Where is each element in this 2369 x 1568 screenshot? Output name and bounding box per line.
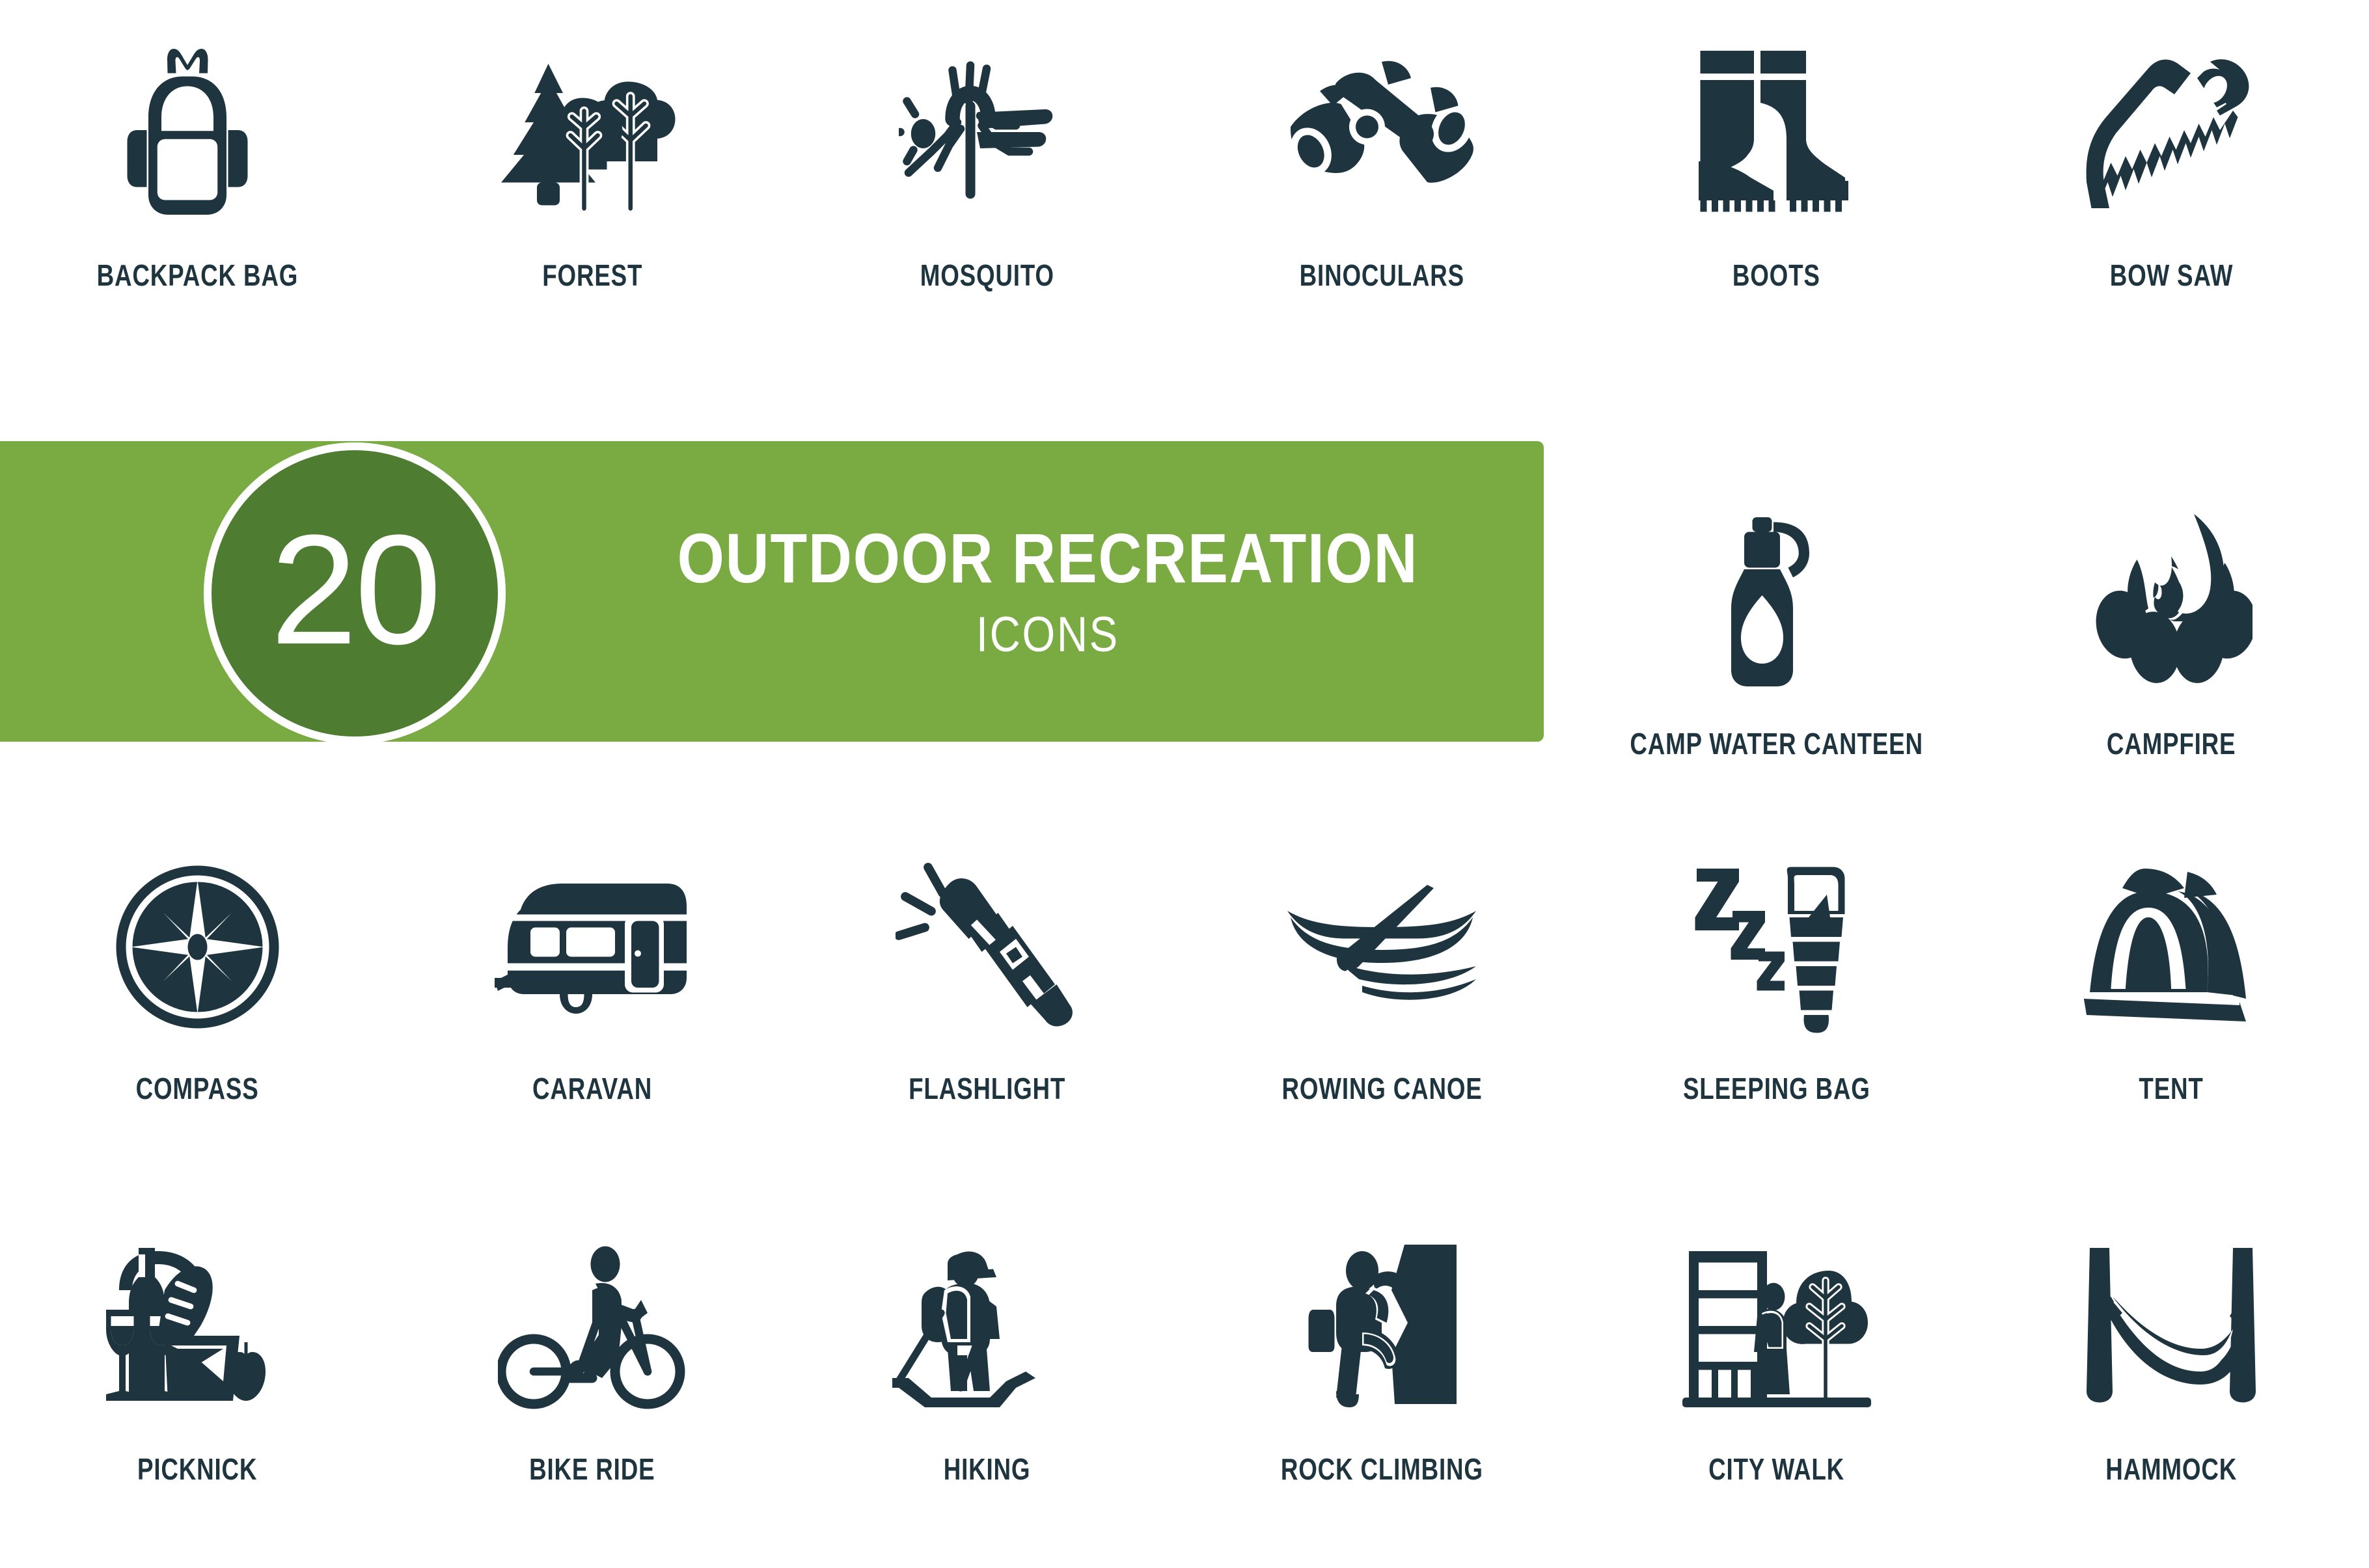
icon-cell-caravan[interactable]: CARAVAN	[395, 839, 790, 1106]
icon-label: CARAVAN	[532, 1071, 652, 1106]
icon-cell-flashlight[interactable]: FLASHLIGHT	[789, 839, 1184, 1106]
icon-cell-empty-3	[789, 494, 1184, 761]
caravan-icon	[395, 839, 790, 1054]
binoculars-icon	[1184, 26, 1580, 241]
icon-cell-camp-water-canteen[interactable]: CAMP WATER CANTEEN	[1579, 494, 1974, 761]
city-walk-icon	[1579, 1220, 1974, 1435]
icon-cell-tent[interactable]: TENT	[1974, 839, 2369, 1106]
icon-cell-bike-ride[interactable]: BIKE RIDE	[395, 1220, 790, 1487]
icon-label: HAMMOCK	[2105, 1452, 2237, 1487]
icon-row-4: PICKNICK	[0, 1220, 2369, 1487]
icon-label: BACKPACK BAG	[97, 258, 298, 293]
forest-icon	[395, 26, 790, 241]
icon-label: COMPASS	[136, 1071, 259, 1106]
flashlight-icon	[789, 839, 1184, 1054]
icon-label: CAMPFIRE	[2107, 726, 2236, 761]
icon-cell-backpack-bag[interactable]: BACKPACK BAG	[0, 26, 395, 293]
backpack-icon	[0, 26, 395, 241]
icon-label: SLEEPING BAG	[1683, 1071, 1870, 1106]
icon-label: ROCK CLIMBING	[1281, 1452, 1483, 1487]
icon-label: BINOCULARS	[1299, 258, 1464, 293]
canteen-icon	[1579, 494, 1974, 709]
icon-row-1: BACKPACK BAG FOREST	[0, 26, 2369, 293]
icon-cell-empty-1	[0, 494, 395, 761]
icon-cell-bow-saw[interactable]: BOW SAW	[1974, 26, 2369, 293]
icon-row-2: CAMP WATER CANTEEN	[0, 494, 2369, 761]
hiking-icon	[789, 1220, 1184, 1435]
icon-row-3: COMPASS	[0, 839, 2369, 1106]
icon-label: FLASHLIGHT	[909, 1071, 1065, 1106]
icon-cell-rock-climbing[interactable]: ROCK CLIMBING	[1184, 1220, 1580, 1487]
icon-label: TENT	[2139, 1071, 2204, 1106]
bow-saw-icon	[1974, 26, 2369, 241]
icon-cell-boots[interactable]: BOOTS	[1579, 26, 1974, 293]
tent-icon	[1974, 839, 2369, 1054]
bike-icon	[395, 1220, 790, 1435]
hammock-icon	[1974, 1220, 2369, 1435]
icon-cell-hiking[interactable]: HIKING	[789, 1220, 1184, 1487]
icon-cell-mosquito[interactable]: MOSQUITO	[789, 26, 1184, 293]
icon-label: CAMP WATER CANTEEN	[1630, 726, 1923, 761]
icon-label: HIKING	[944, 1452, 1031, 1487]
icon-cell-sleeping-bag[interactable]: SLEEPING BAG	[1579, 839, 1974, 1106]
icon-label: PICKNICK	[137, 1452, 257, 1487]
icon-cell-picknick[interactable]: PICKNICK	[0, 1220, 395, 1487]
mosquito-icon	[789, 26, 1184, 241]
picnic-icon	[0, 1220, 395, 1435]
canoe-icon	[1184, 839, 1580, 1054]
icon-label: BOW SAW	[2109, 258, 2233, 293]
boots-icon	[1579, 26, 1974, 241]
icon-cell-campfire[interactable]: CAMPFIRE	[1974, 494, 2369, 761]
icon-label: FOREST	[542, 258, 642, 293]
icon-cell-empty-4	[1184, 494, 1580, 761]
icon-cell-binoculars[interactable]: BINOCULARS	[1184, 26, 1580, 293]
icon-label: ROWING CANOE	[1281, 1071, 1482, 1106]
icon-set-sheet: BACKPACK BAG FOREST	[0, 0, 2369, 1568]
rock-climbing-icon	[1184, 1220, 1580, 1435]
sleeping-bag-icon	[1579, 839, 1974, 1054]
icon-cell-compass[interactable]: COMPASS	[0, 839, 395, 1106]
icon-cell-empty-2	[395, 494, 790, 761]
icon-label: BIKE RIDE	[529, 1452, 655, 1487]
icon-label: BOOTS	[1732, 258, 1820, 293]
icon-cell-hammock[interactable]: HAMMOCK	[1974, 1220, 2369, 1487]
icon-label: MOSQUITO	[920, 258, 1054, 293]
compass-icon	[0, 839, 395, 1054]
icon-label: CITY WALK	[1708, 1452, 1844, 1487]
icon-cell-forest[interactable]: FOREST	[395, 26, 790, 293]
icon-cell-city-walk[interactable]: CITY WALK	[1579, 1220, 1974, 1487]
campfire-icon	[1974, 494, 2369, 709]
icon-cell-rowing-canoe[interactable]: ROWING CANOE	[1184, 839, 1580, 1106]
